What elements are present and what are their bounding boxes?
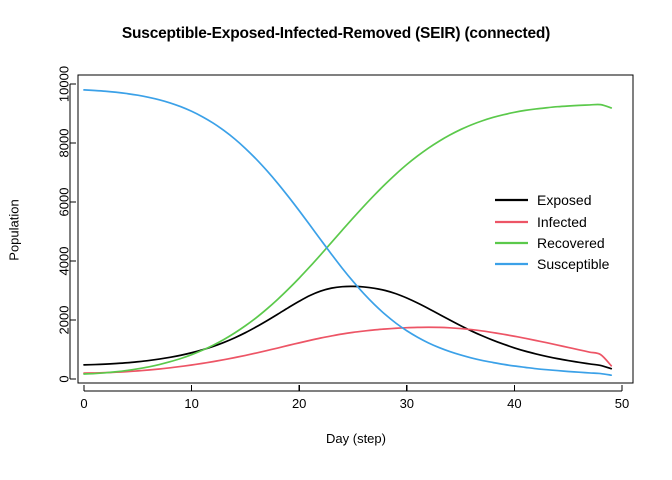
legend-label-recovered: Recovered	[537, 235, 605, 251]
y-tick-label: 4000	[57, 247, 72, 276]
y-tick-label: 8000	[57, 129, 72, 158]
y-tick-label: 10000	[57, 66, 72, 102]
chart-title: Susceptible-Exposed-Infected-Removed (SE…	[122, 25, 550, 42]
x-tick-label: 20	[292, 396, 306, 411]
y-tick-label: 0	[57, 375, 72, 382]
seir-line-chart: Susceptible-Exposed-Infected-Removed (SE…	[0, 0, 672, 480]
y-tick-label: 6000	[57, 188, 72, 217]
legend-label-infected: Infected	[537, 214, 587, 230]
legend-label-susceptible: Susceptible	[537, 256, 610, 272]
x-tick-label: 0	[80, 396, 87, 411]
y-tick-label: 2000	[57, 306, 72, 335]
x-tick-label: 40	[507, 396, 521, 411]
x-tick-label: 10	[184, 396, 198, 411]
x-tick-label: 50	[615, 396, 629, 411]
legend-label-exposed: Exposed	[537, 192, 591, 208]
x-tick-label: 30	[400, 396, 414, 411]
y-axis-label: Population	[7, 199, 22, 260]
x-axis-label: Day (step)	[326, 431, 386, 446]
chart-container: Susceptible-Exposed-Infected-Removed (SE…	[0, 0, 672, 480]
